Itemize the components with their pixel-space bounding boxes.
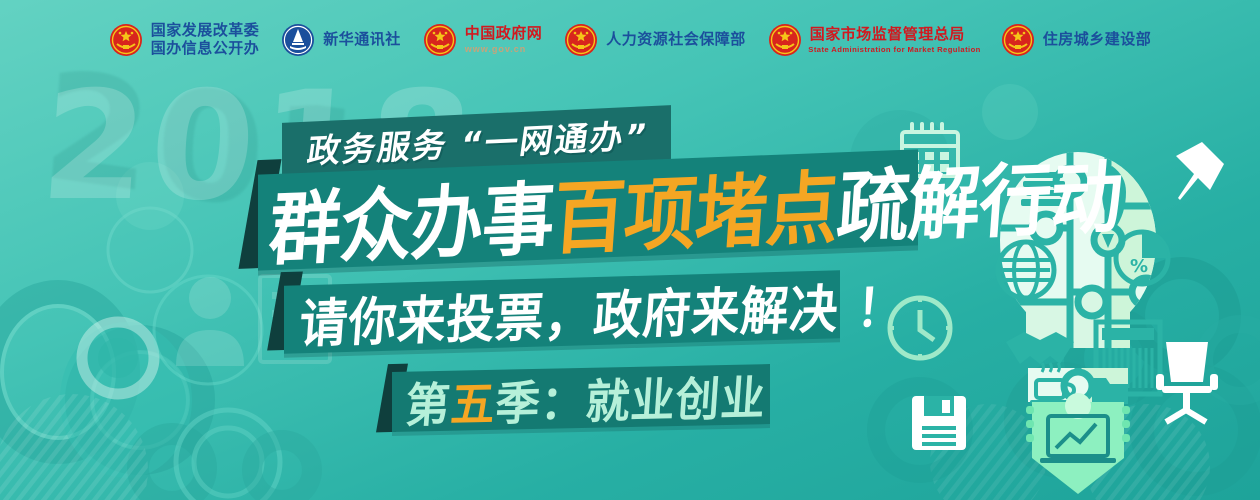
logo-item-samr[interactable]: 国家市场监督管理总局 State Administration for Mark…	[768, 23, 979, 57]
logo-line-1: 人力资源社会保障部	[606, 31, 746, 49]
logo-line-1: 住房城乡建设部	[1043, 31, 1152, 49]
campaign-banner: 2018 2018 国家发展改革委	[0, 0, 1260, 500]
logo-item-mohurd[interactable]: 住房城乡建设部	[1001, 23, 1152, 57]
logo-label-mohrss: 人力资源社会保障部	[606, 31, 746, 49]
headline-line-2-highlight: 百项堵点	[550, 142, 842, 269]
logo-item-xinhua[interactable]: 新华通讯社	[281, 23, 401, 57]
logo-sub-gov-url: www.gov.cn	[465, 44, 543, 55]
logo-label-ndrc: 国家发展改革委 国办信息公开办	[151, 22, 260, 59]
headline-line-4-highlight: 五	[449, 366, 499, 435]
xinhua-logo-icon	[281, 23, 315, 57]
logo-item-ndrc[interactable]: 国家发展改革委 国办信息公开办	[109, 22, 260, 59]
ribbon-slogan: 请你来投票，政府来解决 ！	[284, 270, 840, 354]
logo-line-1: 新华通讯社	[323, 31, 401, 49]
logo-line-2: 国办信息公开办	[151, 40, 260, 58]
logo-line-1: 国家发展改革委	[151, 22, 260, 40]
headline-line-4-part-2: 季：就业创业	[494, 360, 769, 434]
logo-item-mohrss[interactable]: 人力资源社会保障部	[564, 23, 746, 57]
national-emblem-icon	[109, 23, 143, 57]
ribbon-season: 第 五 季：就业创业	[392, 364, 770, 432]
logo-item-gov-cn[interactable]: 中国政府网 www.gov.cn	[423, 23, 543, 57]
national-emblem-icon	[564, 23, 598, 57]
national-emblem-icon	[768, 23, 802, 57]
partner-logo-strip: 国家发展改革委 国办信息公开办 新华通讯社	[0, 0, 1260, 80]
headline-line-3: 请你来投票，政府来解决 ！	[297, 265, 908, 358]
national-emblem-icon	[1001, 23, 1035, 57]
logo-label-xinhua: 新华通讯社	[323, 31, 401, 49]
logo-label-gov-cn: 中国政府网 www.gov.cn	[465, 25, 543, 54]
logo-sub-english: State Administration for Market Regulati…	[808, 45, 980, 54]
logo-line-1: 中国政府网	[465, 25, 543, 43]
headline-line-2-part-1: 群众办事	[266, 153, 558, 280]
logo-label-samr: 国家市场监督管理总局 State Administration for Mark…	[810, 26, 979, 53]
headline-line-4-part-1: 第	[404, 367, 454, 436]
logo-label-mohurd: 住房城乡建设部	[1043, 31, 1152, 49]
national-emblem-icon	[423, 23, 457, 57]
logo-line-1: 国家市场监督管理总局	[810, 26, 979, 44]
ribbon-main-headline: 群众办事 百项堵点 疏解行动	[258, 149, 918, 270]
headline-line-2-part-2: 疏解行动	[834, 132, 1126, 259]
